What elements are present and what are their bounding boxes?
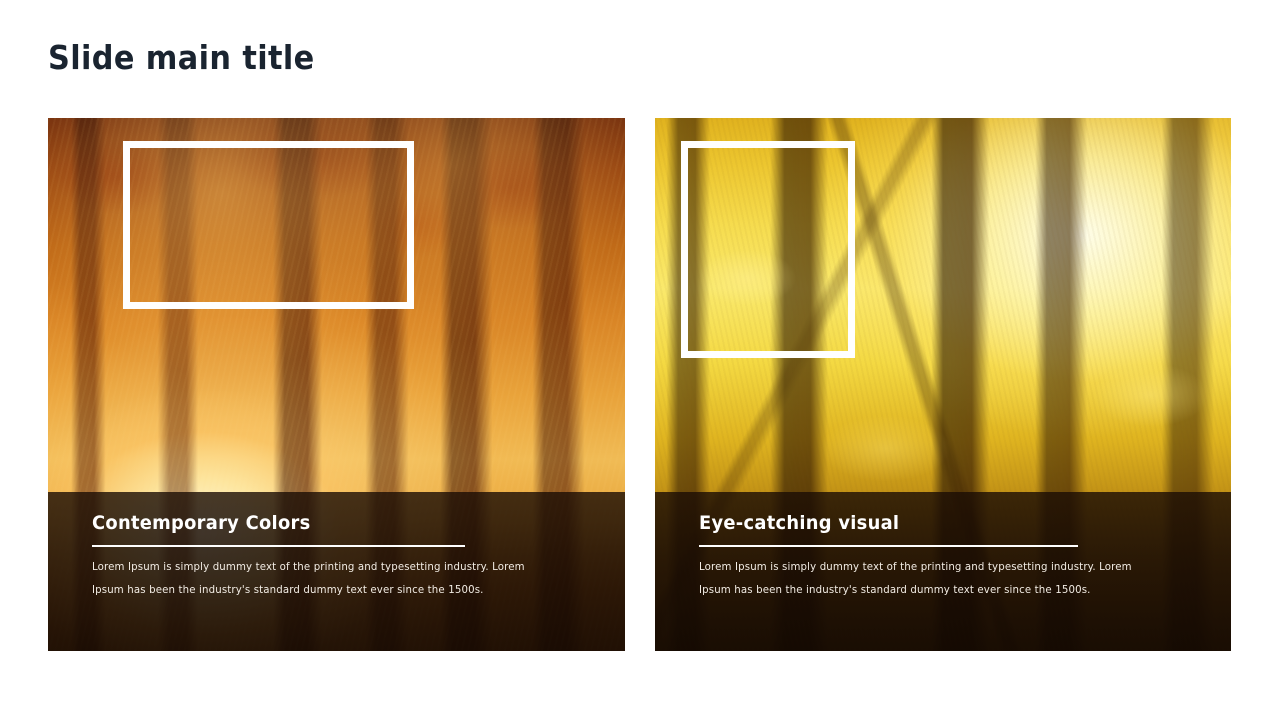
content-card-eye-catching-visual[interactable]: Eye-catching visual Lorem Ipsum is simpl… [655,118,1231,651]
card-body-text: Lorem Ipsum is simply dummy text of the … [92,556,533,602]
caption-content: Eye-catching visual Lorem Ipsum is simpl… [699,492,1201,651]
card-body-text: Lorem Ipsum is simply dummy text of the … [699,556,1134,602]
caption-overlay-band: Contemporary Colors Lorem Ipsum is simpl… [48,492,625,651]
heading-underline-rule [92,545,465,547]
card-heading: Contemporary Colors [92,512,311,534]
caption-overlay-band: Eye-catching visual Lorem Ipsum is simpl… [655,492,1231,651]
accent-frame-rectangle [123,141,414,309]
slide-canvas: Slide main title Contemporary Colors Lor… [0,0,1280,720]
page-title: Slide main title [48,38,315,77]
card-heading: Eye-catching visual [699,512,899,534]
caption-content: Contemporary Colors Lorem Ipsum is simpl… [92,492,595,651]
accent-frame-rectangle [681,141,855,358]
heading-underline-rule [699,545,1078,547]
content-card-contemporary-colors[interactable]: Contemporary Colors Lorem Ipsum is simpl… [48,118,625,651]
